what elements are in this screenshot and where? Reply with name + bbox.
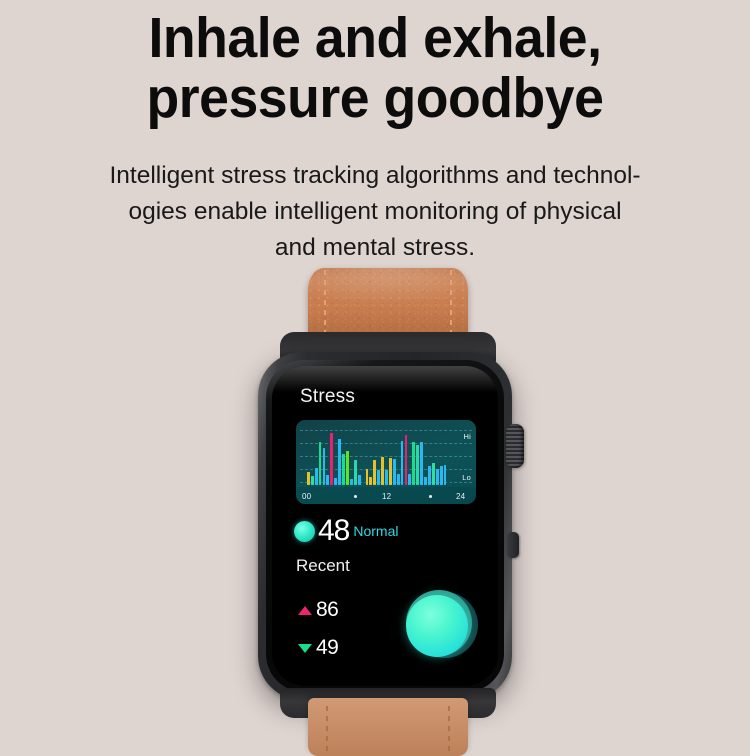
chart-bar [385, 470, 388, 485]
chart-bar [362, 482, 365, 485]
chart-bar [424, 477, 427, 485]
stress-chart[interactable]: Hi Lo 00 12 24 [296, 420, 476, 504]
watch-case: Stress Hi Lo 00 12 [258, 352, 512, 700]
recent-low-value: 49 [316, 636, 338, 660]
chart-bar [342, 454, 345, 485]
watch-strap-bottom [308, 698, 468, 756]
chart-bar [377, 470, 380, 485]
chart-bars [303, 429, 454, 485]
chart-bar [311, 476, 314, 485]
chart-bar [326, 475, 329, 485]
chart-bar [330, 433, 333, 485]
chart-bar [432, 463, 435, 485]
chart-bar [436, 469, 439, 485]
chart-bar [381, 457, 384, 485]
watch-screen[interactable]: Stress Hi Lo 00 12 [272, 366, 498, 686]
chart-axis-label-hi: Hi [464, 432, 471, 441]
x-tick-dot-2 [429, 492, 432, 501]
chart-bar [428, 466, 431, 485]
x-tick-00: 00 [302, 492, 311, 501]
chart-bar [369, 477, 372, 485]
current-stress-status: Normal [353, 523, 398, 539]
orb-core [406, 595, 468, 657]
chart-bar [405, 435, 408, 485]
recent-high-row: 86 [298, 598, 338, 622]
stress-app-ui: Stress Hi Lo 00 12 [272, 366, 498, 686]
screen-title: Stress [300, 386, 355, 408]
x-tick-12: 12 [382, 492, 391, 501]
chart-bar [444, 465, 447, 485]
x-tick-dot-1 [354, 492, 357, 501]
arrow-up-icon [298, 606, 312, 615]
chart-bar [354, 460, 357, 485]
chart-bar [397, 474, 400, 485]
chart-axis-label-lo: Lo [462, 473, 471, 482]
stress-orb-graphic [406, 590, 478, 662]
chart-bar [315, 468, 318, 485]
chart-bar [416, 445, 419, 485]
chart-bar [323, 448, 326, 485]
x-tick-24: 24 [456, 492, 465, 501]
chart-bar [350, 479, 353, 485]
chart-bar [358, 475, 361, 485]
watch-side-button[interactable] [507, 532, 519, 558]
chart-bar [346, 451, 349, 485]
chart-bar [366, 469, 369, 485]
chart-bar [389, 458, 392, 485]
arrow-down-icon [298, 644, 312, 653]
chart-bar [420, 442, 423, 485]
chart-bar [319, 442, 322, 485]
watch-bezel: Stress Hi Lo 00 12 [266, 360, 504, 692]
smartwatch-product-image: Stress Hi Lo 00 12 [0, 0, 750, 750]
chart-bar [393, 459, 396, 485]
page-root: Inhale and exhale, pressure goodbye Inte… [0, 0, 750, 750]
stress-indicator-dot-icon [294, 521, 315, 542]
chart-bar [334, 478, 337, 485]
chart-bar [338, 439, 341, 485]
chart-bar [408, 474, 411, 485]
current-stress-row: 48 Normal [294, 516, 399, 546]
recent-low-row: 49 [298, 636, 338, 660]
recent-section-title: Recent [296, 556, 350, 576]
recent-high-value: 86 [316, 598, 338, 622]
chart-x-axis: 00 12 24 [296, 487, 476, 504]
current-stress-value: 48 [318, 516, 349, 546]
chart-bar [440, 466, 443, 485]
chart-bar [412, 442, 415, 485]
chart-bar [307, 472, 310, 485]
chart-bar [401, 441, 404, 485]
chart-bar [448, 481, 451, 485]
watch-crown-button[interactable] [506, 424, 524, 468]
chart-bar [373, 460, 376, 485]
